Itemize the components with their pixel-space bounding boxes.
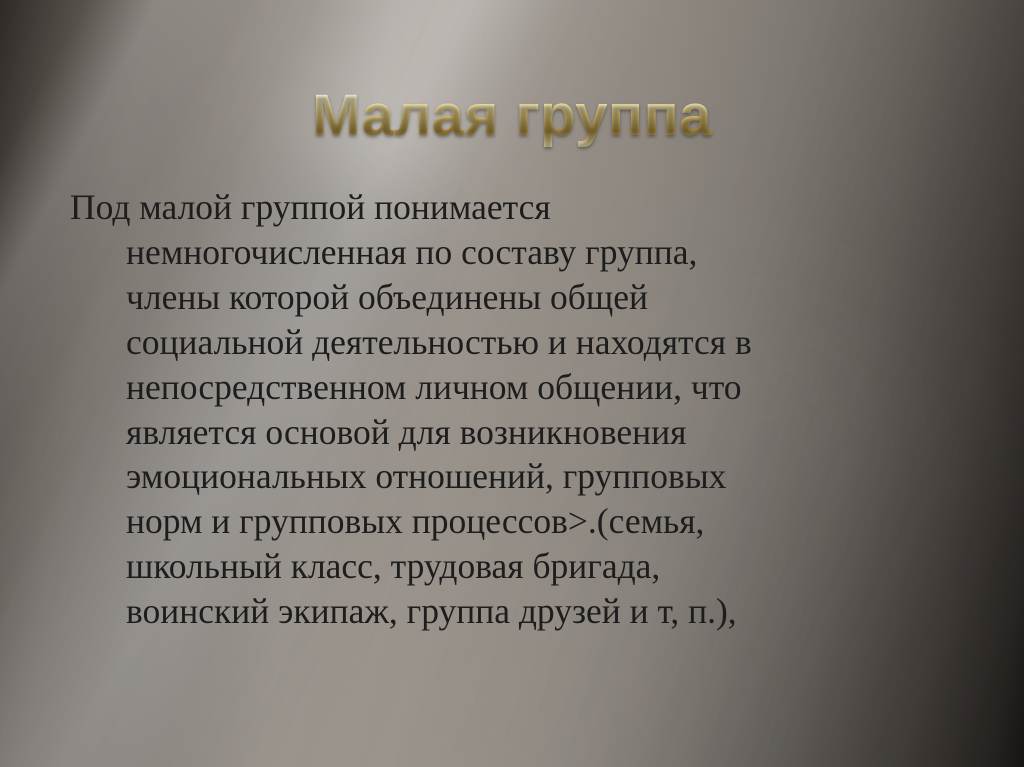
slide-title: Малая группа (0, 86, 1024, 147)
slide-body-text: Под малой группой понимаетсянемногочисле… (70, 185, 965, 634)
body-paragraph: Под малой группой понимаетсянемногочисле… (70, 185, 965, 634)
presentation-slide: Малая группа Под малой группой понимаетс… (0, 0, 1024, 767)
body-line: норм и групповых процессов>.(семья, (70, 499, 965, 544)
body-line: немногочисленная по составу группа, (70, 230, 965, 275)
body-line: воинский экипаж, группа друзей и т, п.), (70, 589, 965, 634)
body-line: непосредственном личном общении, что (70, 365, 965, 410)
body-line: социальной деятельностью и находятся в (70, 320, 965, 365)
body-line: эмоциональных отношений, групповых (70, 454, 965, 499)
body-line: является основой для возникновения (70, 410, 965, 455)
body-line: Под малой группой понимается (70, 185, 965, 230)
body-line: члены которой объединены общей (70, 275, 965, 320)
body-line: школьный класс, трудовая бригада, (70, 544, 965, 589)
